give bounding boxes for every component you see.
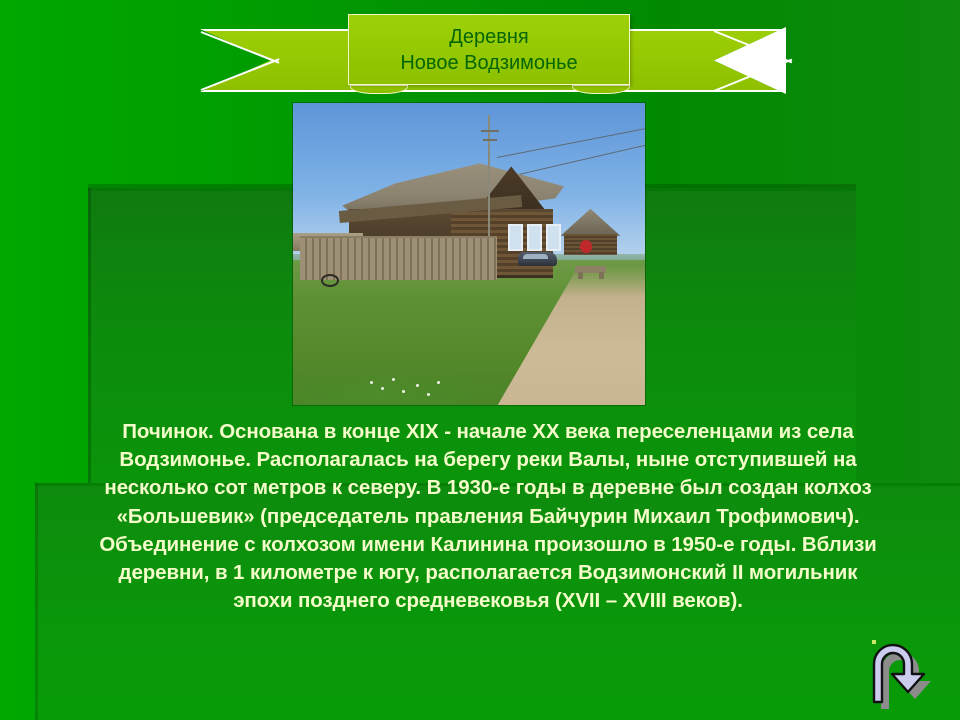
photo-antenna-pole: [488, 115, 489, 242]
photo-flower: [381, 387, 384, 390]
photo-antenna-bar-2: [483, 139, 497, 141]
page-title-line-2: Новое Водзимонье: [400, 50, 577, 76]
title-plaque: Деревня Новое Водзимонье: [348, 14, 630, 85]
photo-bench-leg-2: [599, 272, 604, 279]
photo-window-1: [508, 224, 523, 251]
photo-car-window: [523, 254, 548, 259]
village-photo: [293, 103, 645, 405]
photo-antenna-bar-1: [481, 130, 499, 132]
lower-panel-left-edge: [35, 483, 38, 720]
village-photo-content: [293, 103, 645, 405]
return-arrow-button[interactable]: [866, 636, 952, 714]
photo-tire: [321, 274, 339, 287]
photo-flower: [392, 378, 395, 381]
plaque-tail-left: [350, 85, 408, 94]
slide-canvas: Деревня Новое Водзимонье: [0, 0, 960, 720]
photo-bench-leg-1: [578, 272, 583, 279]
decorative-dot: [872, 640, 876, 644]
plaque-tail-right: [572, 85, 630, 94]
photo-flower: [402, 390, 405, 393]
photo-window-3: [546, 224, 561, 251]
photo-window-2: [527, 224, 542, 251]
page-title-line-1: Деревня: [449, 24, 528, 50]
photo-flower: [427, 393, 430, 396]
upper-panel-left-edge: [88, 188, 91, 488]
body-paragraph: Починок. Основана в конце XIX - начале X…: [96, 418, 880, 615]
photo-red-object: [580, 240, 592, 253]
